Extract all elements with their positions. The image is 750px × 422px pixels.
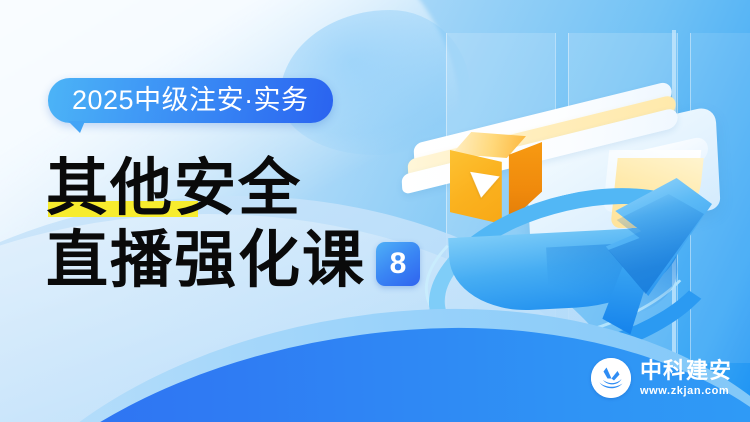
title-line-2: 直播强化课 8	[46, 224, 420, 296]
company-name: 中科建安	[640, 360, 732, 382]
brand-logo[interactable]: 中科建安 www.zkjan.com	[591, 358, 732, 398]
hero-illustration	[398, 8, 750, 348]
mountain-peak-circle-icon	[591, 358, 631, 398]
title-block: 其他安全 直播强化课 8	[46, 152, 420, 296]
play-triangle-icon	[466, 172, 499, 200]
course-category-badge: 2025中级注安·实务	[48, 78, 333, 123]
episode-number-badge: 8	[376, 242, 420, 286]
page-title-secondary: 直播强化课	[46, 224, 366, 296]
page-title-primary: 其他安全	[46, 152, 302, 224]
logo-text-block: 中科建安 www.zkjan.com	[640, 360, 732, 397]
course-promo-banner: 2025中级注安·实务 其他安全 直播强化课 8 中科建安 www.zkjan.…	[0, 0, 750, 422]
title-line-1: 其他安全	[46, 152, 420, 224]
company-website: www.zkjan.com	[640, 386, 732, 397]
